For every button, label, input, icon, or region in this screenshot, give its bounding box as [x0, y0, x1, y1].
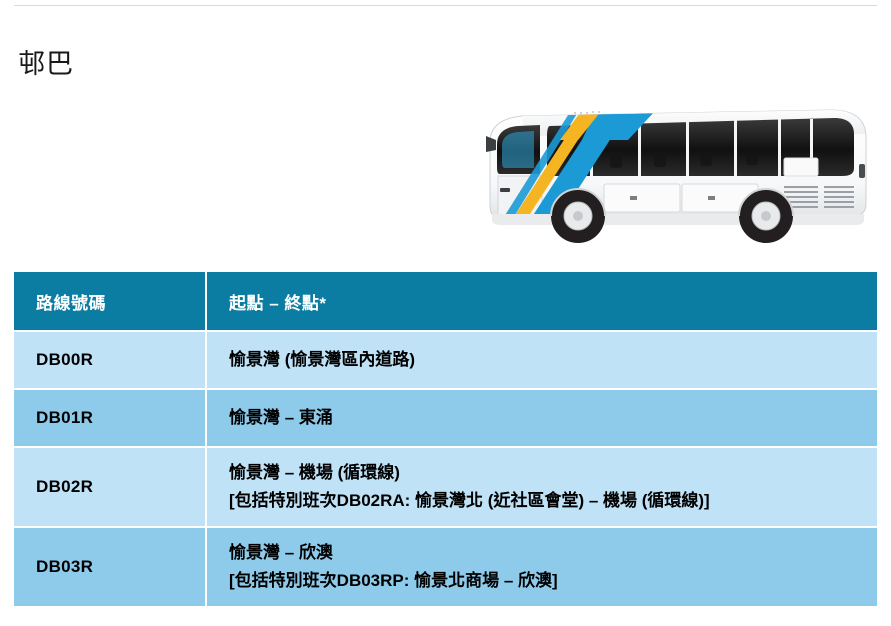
table-header: 路線號碼 起點 – 終點* — [14, 272, 877, 332]
page-title: 邨巴 — [18, 44, 74, 84]
route-primary-text: 愉景灣 – 欣澳 — [229, 539, 877, 567]
cell-route-code: DB00R — [14, 332, 207, 390]
cell-route-code: DB01R — [14, 390, 207, 448]
route-primary-text: 愉景灣 – 東涌 — [229, 404, 877, 432]
cell-route-description: 愉景灣 – 欣澳 [包括特別班次DB03RP: 愉景北商場 – 欣澳] — [207, 528, 877, 608]
estate-bus-route-table: 路線號碼 起點 – 終點* DB00R 愉景灣 (愉景灣區內道路) DB01R … — [14, 272, 877, 608]
page-root: 邨巴 — [0, 0, 891, 626]
route-secondary-text: [包括特別班次DB02RA: 愉景灣北 (近社區會堂) – 機場 (循環線)] — [229, 487, 877, 515]
table-row: DB01R 愉景灣 – 東涌 — [14, 390, 877, 448]
bus-illustration — [478, 96, 874, 256]
table-row: DB03R 愉景灣 – 欣澳 [包括特別班次DB03RP: 愉景北商場 – 欣澳… — [14, 528, 877, 608]
route-primary-text: 愉景灣 – 機場 (循環線) — [229, 459, 877, 487]
cell-route-description: 愉景灣 – 機場 (循環線) [包括特別班次DB02RA: 愉景灣北 (近社區會… — [207, 448, 877, 528]
cell-route-description: 愉景灣 (愉景灣區內道路) — [207, 332, 877, 390]
cell-route-code: DB03R — [14, 528, 207, 608]
column-header-route-code: 路線號碼 — [14, 272, 207, 332]
cell-route-description: 愉景灣 – 東涌 — [207, 390, 877, 448]
route-secondary-text: [包括特別班次DB03RP: 愉景北商場 – 欣澳] — [229, 567, 877, 595]
table-row: DB02R 愉景灣 – 機場 (循環線) [包括特別班次DB02RA: 愉景灣北… — [14, 448, 877, 528]
table-row: DB00R 愉景灣 (愉景灣區內道路) — [14, 332, 877, 390]
top-divider — [14, 5, 877, 6]
column-header-origin-destination: 起點 – 終點* — [207, 272, 877, 332]
cell-route-code: DB02R — [14, 448, 207, 528]
route-primary-text: 愉景灣 (愉景灣區內道路) — [229, 346, 877, 374]
table-header-row: 路線號碼 起點 – 終點* — [14, 272, 877, 332]
table-body: DB00R 愉景灣 (愉景灣區內道路) DB01R 愉景灣 – 東涌 DB02R… — [14, 332, 877, 608]
